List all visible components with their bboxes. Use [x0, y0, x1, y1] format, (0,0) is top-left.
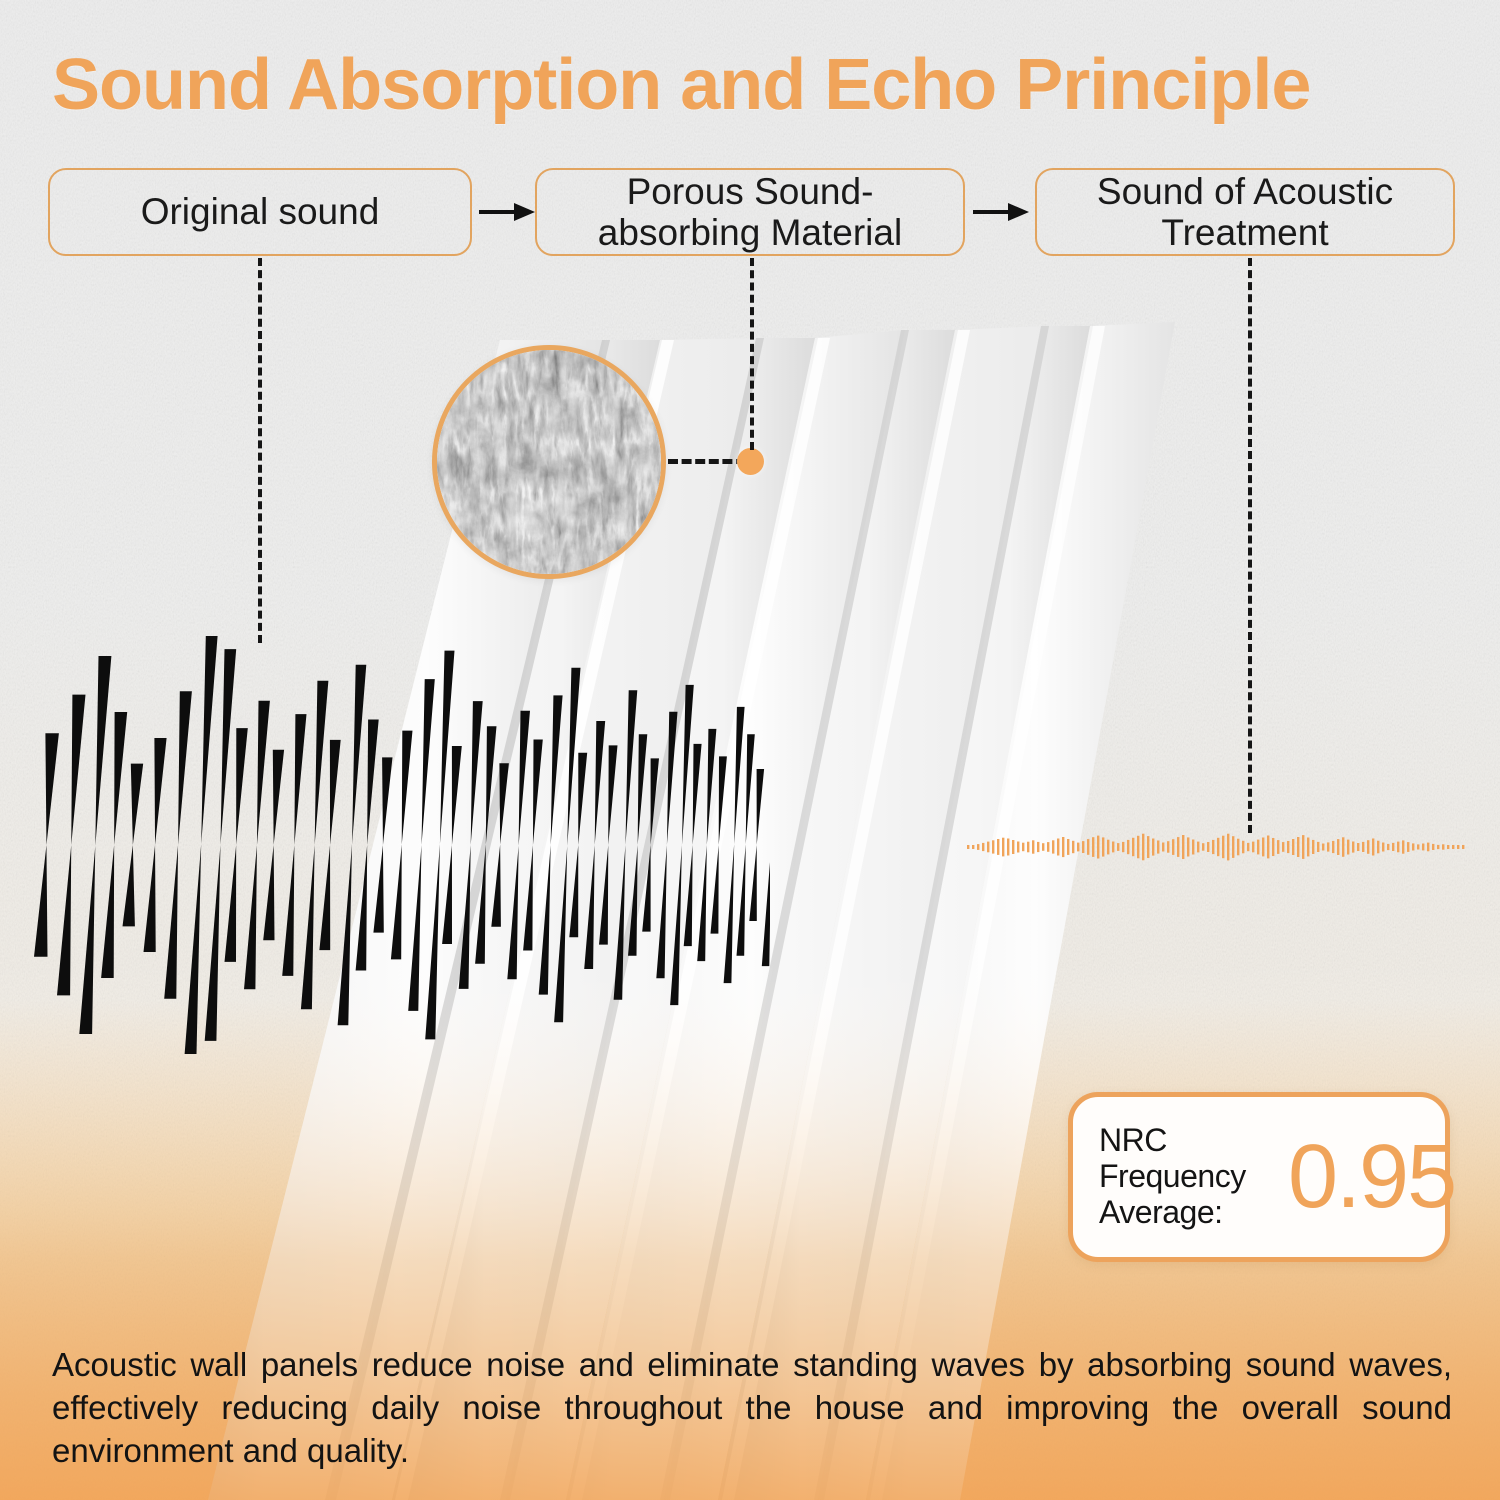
- caption-text: Acoustic wall panels reduce noise and el…: [52, 1344, 1452, 1473]
- leader-line-original-sound: [258, 258, 262, 643]
- flow-step-label: Sound of Acoustic Treatment: [1047, 171, 1443, 254]
- porous-fiber-texture: [433, 346, 665, 578]
- magnifier-connector-line: [668, 459, 746, 464]
- infographic-stage: Sound Absorption and Echo Principle Orig…: [0, 0, 1500, 1500]
- nrc-value: 0.95: [1288, 1132, 1455, 1222]
- nrc-badge: NRC Frequency Average: 0.95: [1068, 1092, 1450, 1262]
- flow-step-label: Porous Sound-absorbing Material: [547, 171, 953, 254]
- flow-step-porous-material[interactable]: Porous Sound-absorbing Material: [535, 168, 965, 256]
- callout-dot-icon: [737, 448, 764, 475]
- flow-step-original-sound[interactable]: Original sound: [48, 168, 472, 256]
- fiber-closeup-magnifier: [432, 345, 666, 579]
- leader-line-acoustic-treatment: [1248, 258, 1252, 833]
- page-title: Sound Absorption and Echo Principle: [52, 44, 1310, 126]
- arrow-right-icon: [478, 200, 536, 224]
- flow-step-label: Original sound: [141, 191, 380, 232]
- flow-step-acoustic-treatment[interactable]: Sound of Acoustic Treatment: [1035, 168, 1455, 256]
- original-sound-waveform: [30, 600, 770, 1100]
- arrow-right-icon: [972, 200, 1030, 224]
- leader-line-porous-material: [750, 258, 754, 450]
- nrc-label: NRC Frequency Average:: [1099, 1123, 1284, 1230]
- treated-sound-waveform: [965, 800, 1465, 895]
